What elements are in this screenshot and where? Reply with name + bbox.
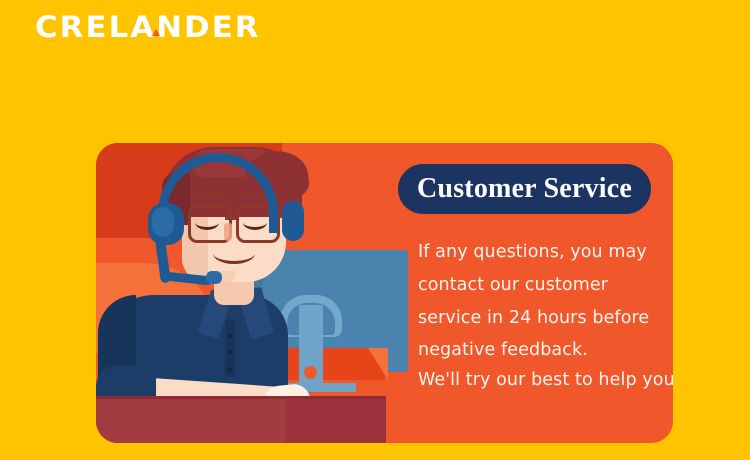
monitor-power-dot-icon <box>304 366 317 379</box>
support-message-line-1: If any questions, you may <box>418 236 673 269</box>
desk-front-panel <box>96 397 286 443</box>
desk-panel-triangle <box>368 348 388 380</box>
desk-edge <box>96 396 386 399</box>
brand-logo-text: CRELANDER <box>35 13 261 42</box>
headset-mic-tip <box>206 271 222 284</box>
agent-shirt-button-1 <box>228 333 233 338</box>
brand-logo: CRELANDER <box>35 8 248 46</box>
agent-shirt-button-3 <box>228 367 233 372</box>
support-message-line-4: negative feedback. <box>418 335 673 365</box>
headset-earcup-right <box>282 201 304 241</box>
customer-service-badge-label: Customer Service <box>417 173 632 205</box>
support-message-line-5: We'll try our best to help you. <box>418 365 673 395</box>
agent-shirt-button-2 <box>228 350 233 355</box>
support-message: If any questions, you may contact our cu… <box>418 236 673 395</box>
headset-earcup-highlight <box>152 207 174 237</box>
agent-smile <box>213 243 255 264</box>
support-message-line-3: service in 24 hours before <box>418 302 673 335</box>
customer-service-banner: CRELANDER <box>0 0 750 460</box>
content-card: Customer Service If any questions, you m… <box>96 143 673 443</box>
support-message-line-2: contact our customer <box>418 269 673 302</box>
triangle-accent-icon <box>152 29 160 36</box>
customer-service-badge: Customer Service <box>398 164 651 214</box>
